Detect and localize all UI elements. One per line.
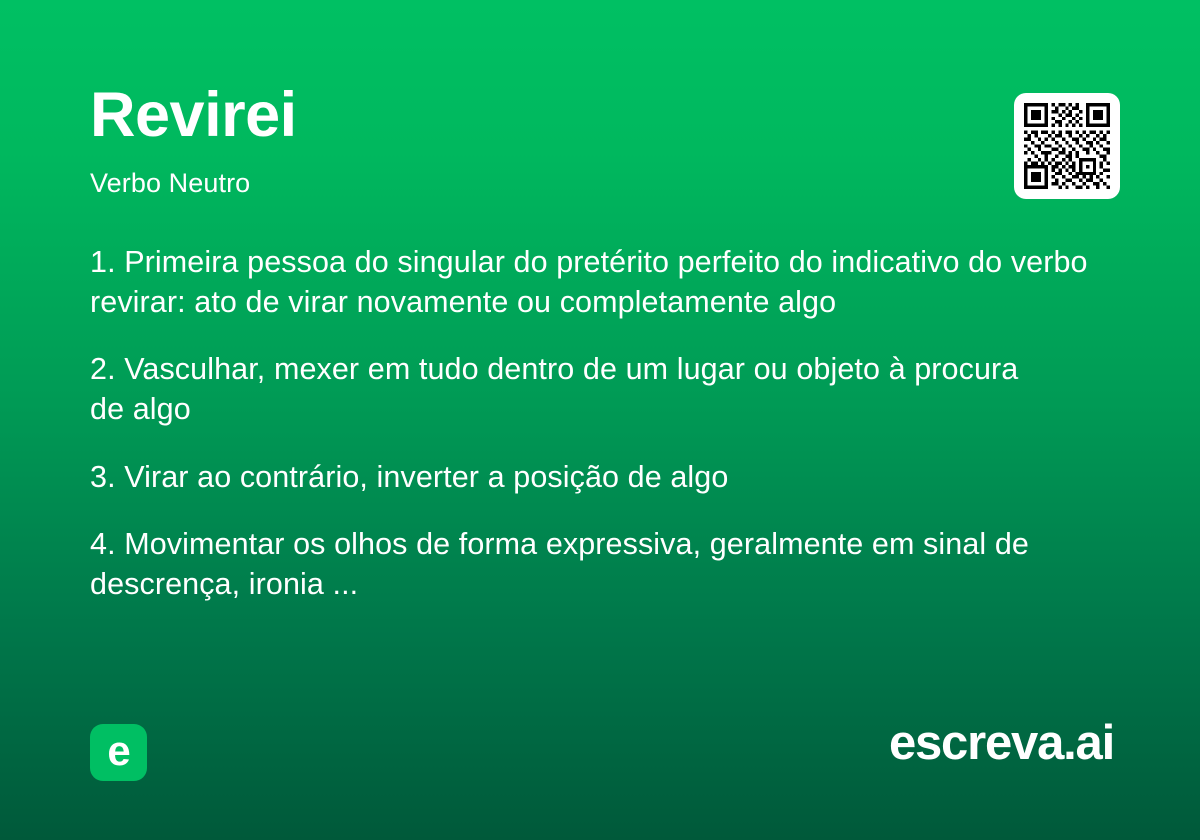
word-class-label: Verbo Neutro	[90, 170, 950, 197]
definition-item: 2. Vasculhar, mexer em tudo dentro de um…	[90, 350, 1050, 429]
card-header: Revirei Verbo Neutro	[90, 84, 950, 197]
definition-item: 1. Primeira pessoa do singular do pretér…	[90, 243, 1120, 322]
brand-wordmark: escreva.ai	[889, 719, 1114, 768]
qr-code-icon	[1024, 103, 1110, 189]
definition-item: 4. Movimentar os olhos de forma expressi…	[90, 525, 1050, 604]
definition-card: Revirei Verbo Neutro	[0, 0, 1200, 840]
definition-list: 1. Primeira pessoa do singular do pretér…	[90, 243, 1120, 604]
escreva-logo-icon[interactable]: e	[90, 724, 147, 781]
logo-letter: e	[107, 730, 129, 772]
page-title: Revirei	[90, 84, 950, 147]
qr-code[interactable]	[1014, 93, 1120, 199]
definition-item: 3. Virar ao contrário, inverter a posiçã…	[90, 458, 1120, 498]
